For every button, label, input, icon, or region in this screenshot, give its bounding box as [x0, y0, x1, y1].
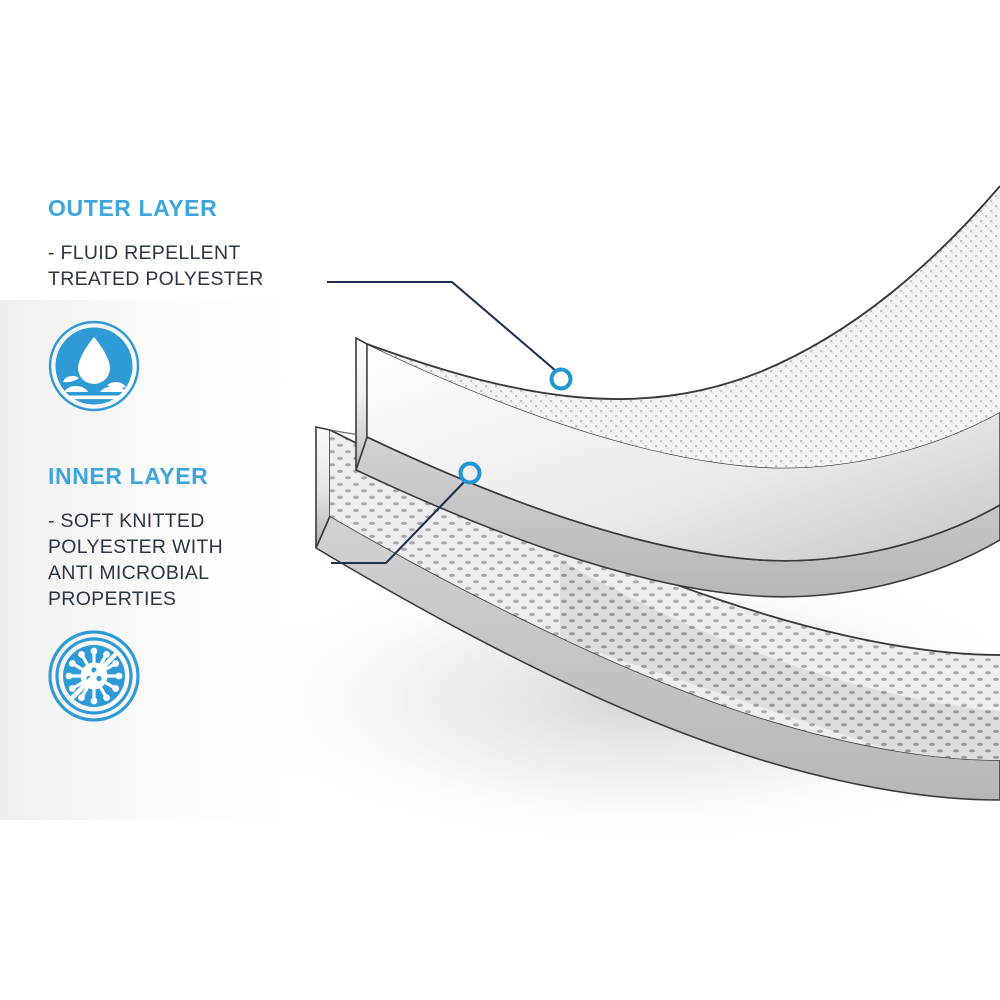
outer-layer-callout-marker	[552, 370, 571, 389]
anti-microbial-icon	[48, 630, 140, 722]
outer-layer-annotation: OUTER LAYER - FLUID REPELLENT TREATED PO…	[48, 196, 338, 293]
outer-layer-description: - FLUID REPELLENT TREATED POLYESTER	[48, 241, 338, 292]
outer-layer-heading: OUTER LAYER	[48, 196, 338, 221]
water-droplet-icon	[48, 320, 140, 412]
inner-layer-annotation: INNER LAYER - SOFT KNITTED POLYESTER WIT…	[48, 464, 338, 612]
inner-layer-heading: INNER LAYER	[48, 464, 338, 489]
outer-layer-description-line-2: TREATED POLYESTER	[48, 267, 338, 293]
inner-layer-description-line-1: - SOFT KNITTED	[48, 509, 338, 535]
inner-layer-description-line-2: POLYESTER WITH	[48, 535, 338, 561]
inner-layer-description: - SOFT KNITTED POLYESTER WITH ANTI MICRO…	[48, 509, 338, 612]
outer-layer-description-line-1: - FLUID REPELLENT	[48, 241, 338, 267]
inner-layer-description-line-3: ANTI MICROBIAL	[48, 561, 338, 587]
inner-layer-description-line-4: PROPERTIES	[48, 587, 338, 613]
fabric-layers-diagram: OUTER LAYER - FLUID REPELLENT TREATED PO…	[0, 0, 1000, 1000]
